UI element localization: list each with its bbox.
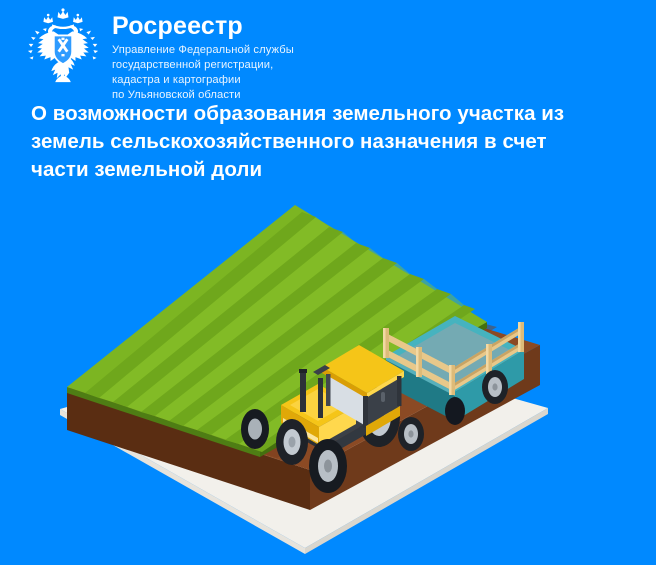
tractor-rear-wheel-left (309, 439, 347, 493)
poster-title: О возможности образования земельного уча… (31, 100, 601, 184)
logo-text-block: Росреестр Управление Федеральной службы … (112, 8, 294, 103)
org-subtitle-line-2: государственной регистрации, (112, 58, 294, 73)
tractor-front-wheel-left (276, 419, 308, 465)
org-subtitle-line-1: Управление Федеральной службы (112, 43, 294, 58)
org-subtitle-line-3: кадастра и картографии (112, 73, 294, 88)
rosreestr-logo-block: Росреестр Управление Федеральной службы … (24, 8, 294, 103)
trailer-wheel-left-far (445, 397, 465, 425)
russian-double-headed-eagle-emblem (24, 8, 102, 86)
trailer-wheel-front (398, 417, 424, 451)
isometric-farm-illustration (0, 180, 656, 565)
org-name: Росреестр (112, 14, 294, 39)
trailer-wheel-rear (482, 370, 508, 404)
poster-root: Росреестр Управление Федеральной службы … (0, 0, 656, 565)
tractor-front-wheel-right (241, 409, 269, 449)
